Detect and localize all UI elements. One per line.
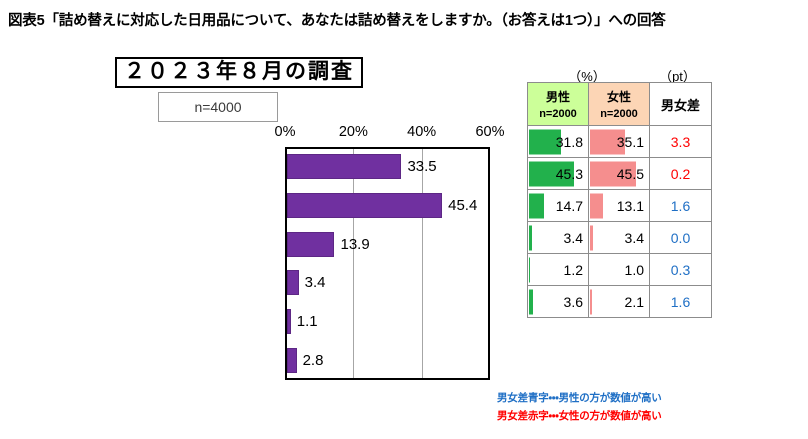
cell-female: 2.1: [589, 286, 650, 318]
mini-bar-female: [590, 289, 592, 314]
bar-value-label: 1.1: [297, 313, 318, 330]
bar-row: 33.5: [287, 154, 488, 179]
x-tick-0%: 0%: [275, 124, 296, 140]
bar-1: [287, 193, 442, 218]
table-row: 1.21.00.3: [528, 254, 712, 286]
cell-diff: 0.3: [650, 254, 712, 286]
table-row: 3.43.40.0: [528, 222, 712, 254]
table-body: 31.835.13.345.345.50.214.713.11.63.43.40…: [528, 126, 712, 318]
bar-5: [287, 348, 297, 373]
header-female-n: n=2000: [600, 108, 638, 120]
bar-4: [287, 309, 291, 334]
footnote-female-higher: 男女差赤字・・・女性の方が数値が高い: [497, 408, 662, 423]
gender-comparison-table: 男性 n=2000 女性 n=2000 男女差 31.835.13.34: [527, 82, 708, 318]
table-row: 45.345.50.2: [528, 158, 712, 190]
gridline-40: [422, 149, 423, 378]
bar-2: [287, 232, 334, 257]
cell-female: 45.5: [589, 158, 650, 190]
header-male-label: 男性: [546, 88, 570, 105]
bar-row: 3.4: [287, 270, 488, 295]
bar-3: [287, 270, 299, 295]
cell-male: 31.8: [528, 126, 589, 158]
x-tick-20%: 20%: [339, 124, 368, 140]
cell-value-female: 45.5: [617, 166, 644, 182]
cell-value-male: 31.8: [556, 134, 583, 150]
table-row: 14.713.11.6: [528, 190, 712, 222]
cell-diff: 0.2: [650, 158, 712, 190]
mini-bar-male: [529, 225, 532, 250]
sample-size-label: n=4000: [194, 99, 241, 115]
mini-bar-male: [529, 193, 544, 218]
cell-female: 35.1: [589, 126, 650, 158]
sample-size-box: n=4000: [158, 92, 278, 122]
column-header-male: 男性 n=2000: [528, 83, 589, 126]
bar-row: 2.8: [287, 348, 488, 373]
cell-value-female: 13.1: [617, 198, 644, 214]
cell-value-male: 3.4: [564, 230, 583, 246]
bar-0: [287, 154, 401, 179]
gridline-20: [353, 149, 354, 378]
cell-male: 3.4: [528, 222, 589, 254]
cell-female: 1.0: [589, 254, 650, 286]
comparison-table-element: 男性 n=2000 女性 n=2000 男女差 31.835.13.34: [527, 82, 712, 318]
cell-value-female: 3.4: [625, 230, 644, 246]
mini-bar-female: [590, 225, 593, 250]
bar-value-label: 45.4: [448, 197, 477, 214]
bar-value-label: 3.4: [305, 274, 326, 291]
footnote-male-higher: 男女差青字・・・男性の方が数値が高い: [497, 390, 662, 405]
cell-male: 14.7: [528, 190, 589, 222]
survey-title-box: ２０２３年８月の調査: [115, 57, 363, 88]
cell-diff: 0.0: [650, 222, 712, 254]
mini-bar-male: [529, 289, 533, 314]
cell-female: 13.1: [589, 190, 650, 222]
bar-row: 13.9: [287, 232, 488, 257]
bar-value-label: 33.5: [407, 158, 436, 175]
cell-diff: 1.6: [650, 286, 712, 318]
table-row: 3.62.11.6: [528, 286, 712, 318]
bar-row: 1.1: [287, 309, 488, 334]
cell-male: 45.3: [528, 158, 589, 190]
bar-chart: ２０２３年８月の調査 n=4000 0%20%40%60% 必ず詰め替えをするほ…: [0, 0, 510, 439]
plot-area: 33.545.413.93.41.12.8: [285, 147, 490, 380]
cell-value-male: 14.7: [556, 198, 583, 214]
cell-value-male: 1.2: [564, 262, 583, 278]
cell-male: 1.2: [528, 254, 589, 286]
header-male-n: n=2000: [539, 108, 577, 120]
cell-female: 3.4: [589, 222, 650, 254]
cell-value-female: 35.1: [617, 134, 644, 150]
cell-value-male: 3.6: [564, 294, 583, 310]
table-header-row: 男性 n=2000 女性 n=2000 男女差: [528, 83, 712, 126]
x-tick-40%: 40%: [407, 124, 436, 140]
bar-row: 45.4: [287, 193, 488, 218]
bar-value-label: 2.8: [303, 352, 324, 369]
header-female-label: 女性: [607, 88, 631, 105]
mini-bar-male: [529, 257, 530, 282]
column-header-diff: 男女差: [650, 83, 712, 126]
cell-male: 3.6: [528, 286, 589, 318]
table-row: 31.835.13.3: [528, 126, 712, 158]
cell-diff: 1.6: [650, 190, 712, 222]
header-diff-label: 男女差: [661, 95, 700, 114]
cell-diff: 3.3: [650, 126, 712, 158]
cell-value-male: 45.3: [556, 166, 583, 182]
column-header-female: 女性 n=2000: [589, 83, 650, 126]
mini-bar-female: [590, 193, 603, 218]
bar-value-label: 13.9: [340, 236, 369, 253]
table-head: 男性 n=2000 女性 n=2000 男女差: [528, 83, 712, 126]
x-tick-60%: 60%: [475, 124, 504, 140]
cell-value-female: 2.1: [625, 294, 644, 310]
cell-value-female: 1.0: [625, 262, 644, 278]
